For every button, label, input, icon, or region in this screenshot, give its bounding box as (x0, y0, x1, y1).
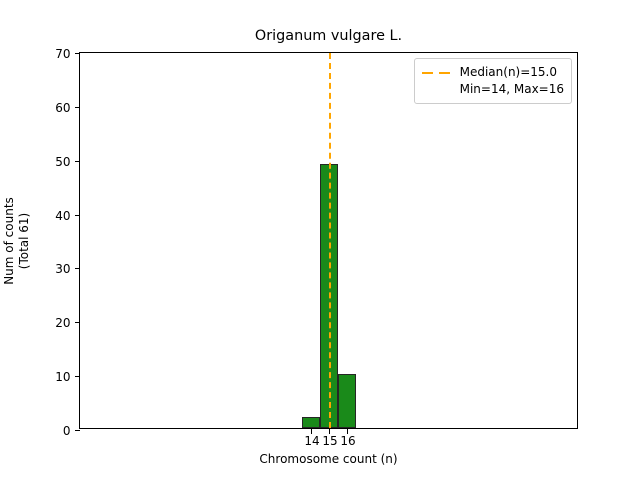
y-tick-label-0: 0 (63, 424, 71, 438)
y-tick-label-30: 30 (55, 262, 70, 276)
y-tick-20: 20 (75, 322, 81, 323)
bar-16 (338, 374, 356, 428)
x-tick-label-15: 15 (322, 434, 337, 448)
bar-14 (302, 417, 320, 428)
y-tick-label-50: 50 (55, 155, 70, 169)
y-tick-label-70: 70 (55, 47, 70, 61)
plot-area: 0 10 20 30 40 50 60 70 14 15 16 (79, 52, 578, 429)
x-tick-14: 14 (311, 428, 312, 434)
chart-figure: Origanum vulgare L. Num of counts (Total… (0, 0, 640, 480)
dashed-line-icon (421, 67, 452, 79)
y-tick-60: 60 (75, 107, 81, 108)
plot-inner (80, 53, 577, 428)
legend: Median(n)=15.0 Min=14, Max=16 (414, 58, 572, 104)
y-tick-30: 30 (75, 268, 81, 269)
legend-item-minmax: Min=14, Max=16 (460, 81, 564, 98)
y-tick-70: 70 (75, 53, 81, 54)
x-tick-label-16: 16 (340, 434, 355, 448)
y-tick-label-40: 40 (55, 209, 70, 223)
x-axis-title: Chromosome count (n) (79, 452, 578, 466)
y-axis-title: Num of counts (Total 61) (0, 52, 34, 429)
median-line (329, 53, 331, 428)
x-tick-label-14: 14 (304, 434, 319, 448)
y-tick-40: 40 (75, 215, 81, 216)
y-tick-label-20: 20 (55, 316, 70, 330)
y-tick-10: 10 (75, 376, 81, 377)
chart-title: Origanum vulgare L. (79, 28, 578, 45)
y-axis-title-line1: Num of counts (2, 197, 17, 285)
x-tick-15: 15 (329, 428, 330, 434)
y-tick-label-60: 60 (55, 101, 70, 115)
y-axis-title-line2: (Total 61) (17, 197, 32, 285)
x-tick-16: 16 (347, 428, 348, 434)
legend-label-median: Median(n)=15.0 (460, 64, 557, 81)
y-tick-50: 50 (75, 161, 81, 162)
legend-label-minmax: Min=14, Max=16 (460, 82, 564, 96)
y-tick-label-10: 10 (55, 370, 70, 384)
y-tick-0: 0 (75, 430, 81, 431)
legend-item-median: Median(n)=15.0 (421, 64, 564, 81)
